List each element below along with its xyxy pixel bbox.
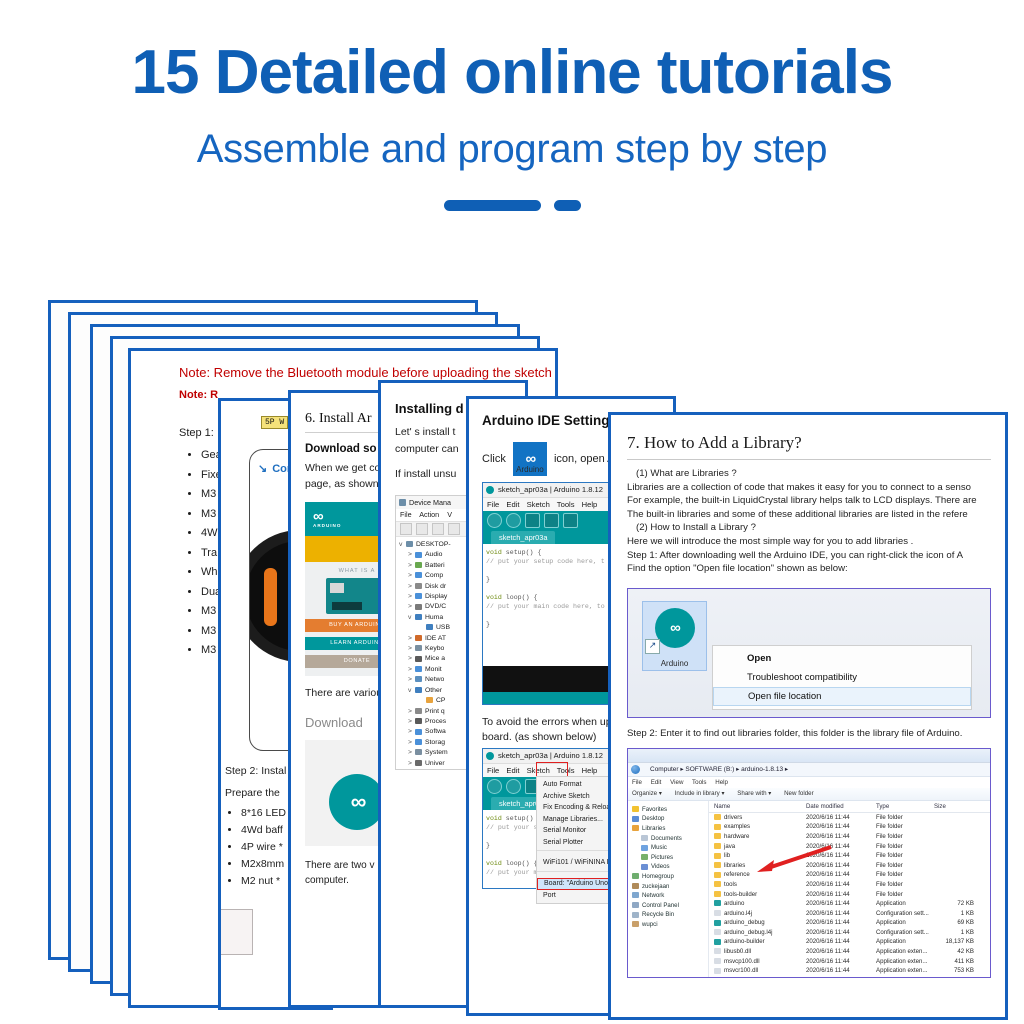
cell-size: 1 KB (934, 909, 974, 919)
cell-size: 42 KB (934, 947, 974, 957)
table-row[interactable]: hardware2020/6/16 11:44File folder (709, 832, 990, 842)
chevron-icon[interactable]: v (399, 540, 406, 550)
cell-date: 2020/6/16 11:44 (806, 813, 876, 823)
cell-size (934, 842, 974, 852)
cell-name: msvcp100.dll (709, 957, 806, 967)
body-line: The built-in libraries and some of these… (627, 508, 991, 522)
cell-date: 2020/6/16 11:44 (806, 851, 876, 861)
arduino-desktop-icon[interactable]: ∞ ↗ Arduino (642, 601, 707, 671)
device-icon (415, 593, 422, 599)
folder-icon (641, 864, 648, 870)
icon-label: Arduino (643, 659, 706, 668)
folder-icon (632, 825, 639, 831)
cell-date: 2020/6/16 11:44 (806, 870, 876, 880)
nav-item[interactable]: Music (632, 843, 708, 853)
device-icon (415, 552, 422, 558)
chevron-icon[interactable]: > (408, 561, 415, 571)
device-icon (415, 708, 422, 714)
chevron-icon[interactable]: > (408, 707, 415, 717)
menu-item-file[interactable]: File (487, 766, 499, 775)
title-bar (628, 749, 990, 763)
device-icon (426, 624, 433, 630)
cell-name: libusb0.dll (709, 947, 806, 957)
context-menu-item-open[interactable]: Open (713, 649, 971, 668)
menu-item-edit[interactable]: Edit (506, 500, 519, 509)
menu-item-help[interactable]: Help (715, 779, 728, 786)
context-menu[interactable]: Open Troubleshoot compatibility Open fil… (712, 645, 972, 710)
cell-type: File folder (876, 890, 934, 900)
column-date[interactable]: Date modified (806, 801, 876, 812)
device-icon (426, 697, 433, 703)
cell-date: 2020/6/16 11:44 (806, 899, 876, 909)
folder-icon (641, 854, 648, 860)
body-line: Here we will introduce the most simple w… (627, 535, 991, 549)
device-icon (415, 562, 422, 568)
nav-item[interactable]: Control Panel (632, 901, 708, 911)
app-file-icon (714, 900, 721, 906)
folder-icon (714, 833, 721, 839)
device-icon (415, 749, 422, 755)
promo-banner: 15 Detailed online tutorials Assemble an… (0, 0, 1024, 1024)
cell-date: 2020/6/16 11:44 (806, 861, 876, 871)
cell-size (934, 822, 974, 832)
cell-size (934, 851, 974, 861)
icon-label: Arduino (513, 465, 547, 474)
forward-icon[interactable] (416, 523, 428, 535)
menu-item-view[interactable]: V (447, 510, 452, 519)
device-icon (415, 635, 422, 641)
cell-size: 18,137 KB (934, 937, 974, 947)
save-sketch-icon[interactable] (563, 513, 578, 528)
note-primary: Note: Remove the Bluetooth module before… (179, 365, 555, 380)
body-line: Libraries are a collection of code that … (627, 481, 991, 495)
chevron-icon[interactable]: > (408, 665, 415, 675)
cell-name: revisions (709, 976, 806, 978)
chevron-icon[interactable]: > (408, 738, 415, 748)
table-row[interactable]: tools-builder2020/6/16 11:44File folder (709, 890, 990, 900)
cell-date: 2020/6/16 11:44 (806, 937, 876, 947)
cell-name: examples (709, 822, 806, 832)
chevron-icon[interactable]: > (408, 634, 415, 644)
cell-size (934, 813, 974, 823)
cell-type: Configuration sett... (876, 928, 934, 938)
table-row[interactable]: msvcp100.dll2020/6/16 11:44Application e… (709, 957, 990, 967)
chevron-icon[interactable]: > (408, 550, 415, 560)
menu-item-action[interactable]: Action (419, 510, 439, 519)
chevron-icon[interactable]: > (408, 727, 415, 737)
file-explorer-screenshot: Computer ▸ SOFTWARE (B:) ▸ arduino-1.8.1… (627, 748, 991, 978)
cell-type: Text Document (876, 976, 934, 978)
divider-dash-long (444, 200, 541, 211)
cell-size: 411 KB (934, 957, 974, 967)
nav-item[interactable]: wupci (632, 920, 708, 930)
device-icon (415, 718, 422, 724)
folder-icon (714, 853, 721, 859)
nav-item[interactable]: Homegroup (632, 872, 708, 882)
chevron-icon[interactable]: > (408, 602, 415, 612)
table-row[interactable]: arduino_debug.l4j2020/6/16 11:44Configur… (709, 928, 990, 938)
note-callout: Note Theirm (221, 909, 253, 955)
table-row[interactable]: arduino.l4j2020/6/16 11:44Configuration … (709, 909, 990, 919)
file-list[interactable]: Name Date modified Type Size drivers2020… (709, 801, 990, 978)
cell-type: File folder (876, 842, 934, 852)
cell-type: File folder (876, 870, 934, 880)
include-in-library-button[interactable]: Include in library ▾ (675, 790, 725, 797)
cfg-file-icon (714, 958, 721, 964)
cfg-file-icon (714, 968, 721, 974)
nav-item[interactable]: Network (632, 891, 708, 901)
cell-name: msvcr100.dll (709, 966, 806, 976)
new-sketch-icon[interactable] (525, 513, 540, 528)
menu-item-file[interactable]: File (632, 779, 642, 786)
cell-type: Application exten... (876, 947, 934, 957)
open-sketch-icon[interactable] (544, 513, 559, 528)
cell-name: lib (709, 851, 806, 861)
navigation-pane[interactable]: FavoritesDesktopLibrariesDocumentsMusicP… (628, 801, 709, 978)
context-menu-screenshot: ∞ ↗ Arduino Open Troubleshoot compatibil… (627, 588, 991, 718)
arduino-logo-icon (486, 752, 494, 760)
cell-date: 2020/6/16 11:44 (806, 909, 876, 919)
column-name[interactable]: Name (709, 801, 806, 812)
app-file-icon (714, 939, 721, 945)
menu-item-help[interactable]: Help (582, 500, 598, 509)
arduino-infinity-logo-icon: ∞ (329, 774, 385, 830)
context-menu-item-open-file-location[interactable]: Open file location (713, 687, 971, 706)
folder-icon (632, 816, 639, 822)
cell-name: arduino (709, 899, 806, 909)
cell-type: Application exten... (876, 966, 934, 976)
cell-type: Application (876, 918, 934, 928)
breadcrumb[interactable]: Computer ▸ SOFTWARE (B:) ▸ arduino-1.8.1… (628, 763, 990, 777)
device-icon (415, 760, 422, 766)
cell-size: 72 KB (934, 899, 974, 909)
chevron-icon[interactable]: v (408, 613, 415, 623)
cell-type: File folder (876, 822, 934, 832)
cell-type: File folder (876, 861, 934, 871)
verify-icon[interactable] (487, 779, 502, 794)
cell-date: 2020/6/16 11:44 (806, 832, 876, 842)
arduino-infinity-logo-icon: ∞ (655, 608, 695, 648)
nav-item[interactable]: Pictures (632, 853, 708, 863)
device-icon (415, 583, 422, 589)
cell-name: drivers (709, 813, 806, 823)
nav-item[interactable]: Favorites (632, 805, 708, 815)
folder-icon (632, 902, 639, 908)
doc-file-icon (714, 977, 723, 978)
device-icon (415, 729, 422, 735)
cell-size (934, 870, 974, 880)
cell-type: Application exten... (876, 957, 934, 967)
table-row[interactable]: examples2020/6/16 11:44File folder (709, 822, 990, 832)
cell-date: 2020/6/16 11:44 (806, 918, 876, 928)
page-subtitle: Assemble and program step by step (0, 108, 1024, 172)
cell-type: File folder (876, 813, 934, 823)
refresh-icon[interactable] (448, 523, 460, 535)
table-row[interactable]: drivers2020/6/16 11:44File folder (709, 813, 990, 823)
context-menu-item-troubleshoot[interactable]: Troubleshoot compatibility (713, 668, 971, 687)
body-line: (2) How to Install a Library ? (627, 521, 991, 535)
device-icon (415, 739, 422, 745)
chevron-icon[interactable]: > (408, 675, 415, 685)
tab-sketch[interactable]: sketch_apr03a (491, 531, 555, 544)
nav-item[interactable]: Desktop (632, 814, 708, 824)
back-icon[interactable] (400, 523, 412, 535)
menu-item-help[interactable]: Help (582, 766, 598, 775)
body-line: Find the option "Open file location" sho… (627, 562, 991, 576)
folder-icon (714, 843, 721, 849)
cfg-file-icon (714, 948, 721, 954)
menu-item-file[interactable]: File (400, 510, 412, 519)
chevron-icon[interactable]: > (408, 644, 415, 654)
cell-date: 2020/6/16 11:44 (806, 890, 876, 900)
organize-button[interactable]: Organize ▾ (632, 790, 662, 797)
chevron-icon[interactable]: v (408, 686, 415, 696)
arduino-desktop-icon: ∞ Arduino (513, 442, 547, 476)
cell-name: hardware (709, 832, 806, 842)
cell-name: tools (709, 880, 806, 890)
menu-item-sketch[interactable]: Sketch (527, 500, 550, 509)
cell-name: arduino_debug (709, 918, 806, 928)
cell-date: 2020/6/16 11:44 (806, 957, 876, 967)
page-title: 15 Detailed online tutorials (0, 0, 1024, 108)
cell-name: tools-builder (709, 890, 806, 900)
arduino-infinity-logo-icon: ∞ ARDUINO (313, 508, 341, 528)
cell-date: 2020/6/16 11:44 (806, 976, 876, 978)
body-line: Step 1: After downloading well the Ardui… (627, 549, 991, 563)
cell-type: Application (876, 937, 934, 947)
folder-icon (632, 883, 639, 889)
device-icon (415, 656, 422, 662)
arduino-logo-icon (486, 486, 494, 494)
chevron-icon[interactable]: > (408, 571, 415, 581)
folder-icon (632, 912, 639, 918)
explorer-toolbar[interactable]: Organize ▾ Include in library ▾ Share wi… (628, 788, 990, 801)
device-icon (415, 687, 422, 693)
cell-name: libraries (709, 861, 806, 871)
cfg-file-icon (714, 910, 721, 916)
cell-type: File folder (876, 832, 934, 842)
folder-icon (714, 881, 721, 887)
cell-size (934, 890, 974, 900)
folder-icon (714, 862, 721, 868)
shortcut-arrow-icon: ↗ (645, 639, 660, 654)
chevron-icon[interactable]: > (408, 592, 415, 602)
cell-date: 2020/6/16 11:44 (806, 947, 876, 957)
cell-name: arduino_debug.l4j (709, 928, 806, 938)
folder-icon (714, 891, 721, 897)
chevron-icon[interactable]: > (408, 748, 415, 758)
menu-item-tools[interactable]: Tools (557, 500, 575, 509)
cell-size: 94 KB (934, 976, 974, 978)
table-row[interactable]: arduino-builder2020/6/16 11:44Applicatio… (709, 937, 990, 947)
body-line: For example, the built-in LiquidCrystal … (627, 494, 991, 508)
cell-size (934, 861, 974, 871)
nav-item[interactable]: zuckejaan (632, 882, 708, 892)
chevron-icon[interactable]: > (408, 582, 415, 592)
folder-icon (632, 806, 639, 812)
device-icon (406, 541, 413, 547)
menu-item-view[interactable]: View (670, 779, 683, 786)
cell-date: 2020/6/16 11:44 (806, 966, 876, 976)
table-header: Name Date modified Type Size (709, 801, 990, 813)
divider-dash-short (554, 200, 581, 211)
connector-label: 5P W (261, 416, 288, 429)
cell-size (934, 880, 974, 890)
divider (0, 200, 1024, 211)
cfg-file-icon (714, 929, 721, 935)
folder-icon (714, 872, 721, 878)
cell-size: 1 KB (934, 928, 974, 938)
upload-icon[interactable] (506, 779, 521, 794)
body-text: (1) What are Libraries ? Libraries are a… (627, 467, 991, 576)
step-label: Step 2: Enter it to find out libraries f… (627, 727, 991, 741)
device-icon (415, 676, 422, 682)
header: 15 Detailed online tutorials Assemble an… (0, 0, 1024, 211)
column-size[interactable]: Size (934, 801, 974, 812)
cell-name: arduino.l4j (709, 909, 806, 919)
folder-icon (714, 814, 721, 820)
table-row[interactable]: libraries2020/6/16 11:44File folder (709, 861, 990, 871)
arduino-wordmark: ARDUINO (313, 523, 341, 528)
chevron-icon[interactable]: > (408, 717, 415, 727)
table-row[interactable]: reference2020/6/16 11:44File folder (709, 870, 990, 880)
table-row[interactable]: arduino_debug2020/6/16 11:44Application6… (709, 918, 990, 928)
menu-item-edit[interactable]: Edit (651, 779, 662, 786)
column-type[interactable]: Type (876, 801, 934, 812)
chevron-icon[interactable]: > (408, 654, 415, 664)
back-icon[interactable] (631, 765, 640, 774)
device-icon (415, 645, 422, 651)
table-row[interactable]: lib2020/6/16 11:44File folder (709, 851, 990, 861)
table-row[interactable]: java2020/6/16 11:44File folder (709, 842, 990, 852)
table-row[interactable]: revisions2020/6/16 11:44Text Document94 … (709, 976, 990, 978)
cell-type: Application (876, 899, 934, 909)
cell-name: java (709, 842, 806, 852)
menu-bar[interactable]: File Edit View Tools Help (628, 777, 990, 788)
table-row[interactable]: libusb0.dll2020/6/16 11:44Application ex… (709, 947, 990, 957)
nav-item[interactable]: Recycle Bin (632, 910, 708, 920)
device-icon (415, 614, 422, 620)
cell-date: 2020/6/16 11:44 (806, 842, 876, 852)
orange-part-icon (264, 568, 277, 626)
nav-item[interactable]: Documents (632, 834, 708, 844)
body-line: (1) What are Libraries ? (627, 467, 991, 481)
section-title: 7. How to Add a Library? (627, 433, 991, 460)
cell-date: 2020/6/16 11:44 (806, 822, 876, 832)
cell-date: 2020/6/16 11:44 (806, 880, 876, 890)
properties-icon[interactable] (432, 523, 444, 535)
folder-icon (641, 835, 648, 841)
cell-size (934, 832, 974, 842)
device-icon (415, 572, 422, 578)
nav-item[interactable]: Videos (632, 862, 708, 872)
folder-icon (632, 892, 639, 898)
folder-icon (641, 845, 648, 851)
menu-item-edit[interactable]: Edit (506, 766, 519, 775)
cell-name: reference (709, 870, 806, 880)
table-row[interactable]: tools2020/6/16 11:44File folder (709, 880, 990, 890)
cell-type: File folder (876, 851, 934, 861)
arrow-down-right-icon: ↘ (258, 463, 267, 475)
cell-type: File folder (876, 880, 934, 890)
nav-item[interactable]: Libraries (632, 824, 708, 834)
device-manager-icon (399, 499, 406, 506)
tutorial-page-add-library: 7. How to Add a Library? (1) What are Li… (608, 412, 1008, 1020)
upload-icon[interactable] (506, 513, 521, 528)
cell-size: 753 KB (934, 966, 974, 976)
cell-size: 69 KB (934, 918, 974, 928)
tools-menu-highlight (536, 762, 568, 777)
chevron-icon[interactable]: > (408, 759, 415, 769)
folder-icon (714, 824, 721, 830)
cell-type: Configuration sett... (876, 909, 934, 919)
table-row[interactable]: arduino2020/6/16 11:44Application72 KB (709, 899, 990, 909)
new-folder-button[interactable]: New folder (784, 790, 814, 797)
folder-icon (632, 921, 639, 927)
verify-icon[interactable] (487, 513, 502, 528)
cell-name: arduino-builder (709, 937, 806, 947)
device-icon (415, 666, 422, 672)
folder-icon (632, 873, 639, 879)
app-file-icon (714, 920, 721, 926)
cell-date: 2020/6/16 11:44 (806, 928, 876, 938)
device-icon (415, 604, 422, 610)
table-row[interactable]: msvcr100.dll2020/6/16 11:44Application e… (709, 966, 990, 976)
share-with-button[interactable]: Share with ▾ (737, 790, 771, 797)
menu-item-tools[interactable]: Tools (692, 779, 706, 786)
menu-item-file[interactable]: File (487, 500, 499, 509)
